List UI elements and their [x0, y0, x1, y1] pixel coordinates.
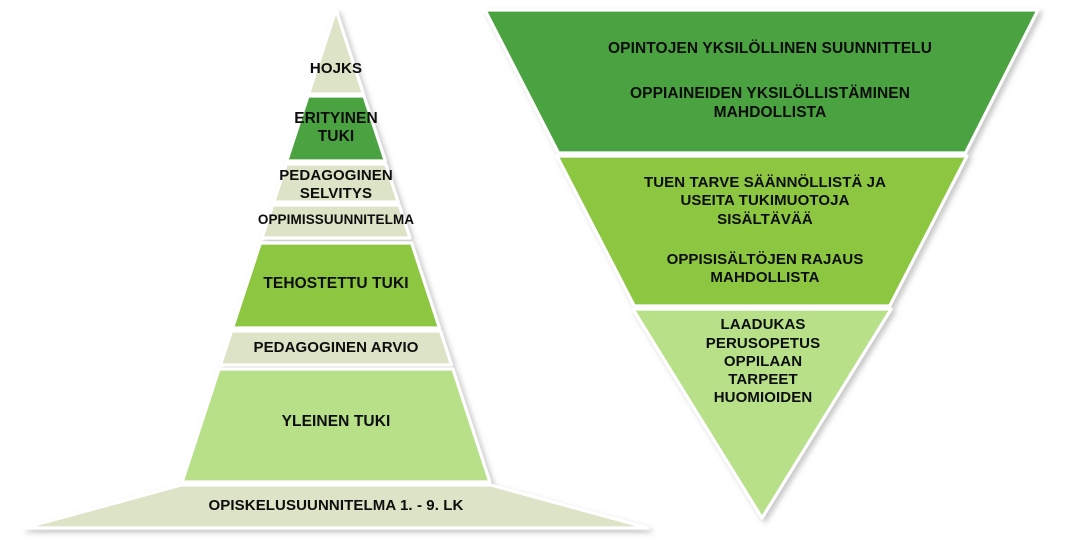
diagram-canvas: HOJKS ERITYINEN TUKI PEDAGOGINEN SELVITY… — [0, 0, 1069, 543]
pyramid-band-hojks[interactable] — [309, 10, 364, 94]
pyramid-band-erityinen-tuki[interactable] — [287, 96, 386, 161]
pyramid-band-oppimissuunnitelma[interactable] — [262, 205, 410, 238]
inverted-triangle-group — [485, 10, 1038, 518]
pyramid-band-pedagoginen-selvitys[interactable] — [274, 164, 398, 202]
diagram-shape-layer — [0, 0, 1069, 543]
pyramid-band-yleinen-tuki[interactable] — [182, 369, 490, 482]
pyramid-band-tehostettu-tuki[interactable] — [233, 243, 440, 328]
inverted-band-tehostettu-sisalto[interactable] — [557, 156, 967, 306]
pyramid-band-pedagoginen-arvio[interactable] — [220, 331, 451, 365]
inverted-band-yleinen-sisalto[interactable] — [633, 309, 891, 518]
pyramid-band-opiskelusuunnitelma[interactable] — [24, 485, 648, 528]
inverted-band-erityinen-sisalto[interactable] — [485, 10, 1038, 153]
